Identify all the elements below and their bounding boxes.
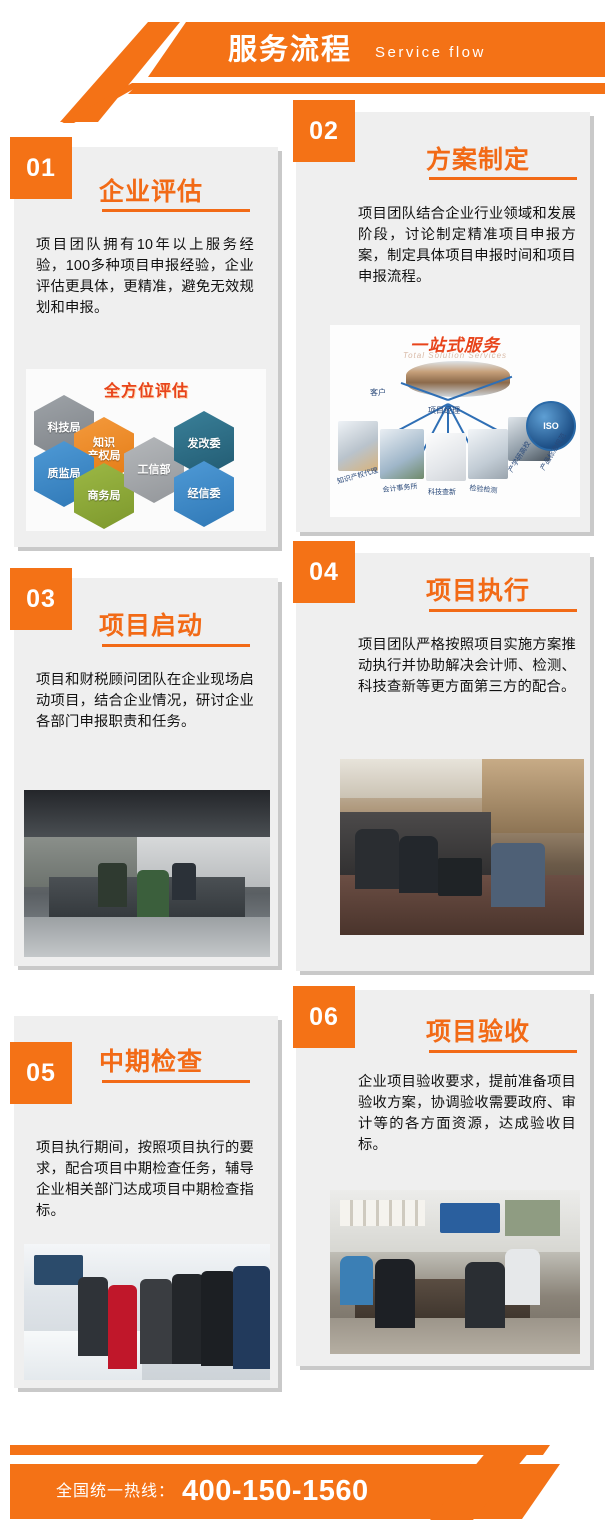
- card-title-01: 企业评估: [99, 172, 203, 208]
- hexagon-node-label: 科技局: [48, 422, 81, 435]
- card-badge-05: 05: [10, 1042, 72, 1104]
- oss-subtitle: Total Solution Services: [403, 351, 507, 360]
- card-badge-number: 03: [26, 585, 56, 614]
- oss-label-testing: 检验检测: [469, 483, 498, 496]
- page-footer: 全国统一热线： 400-150-1560: [0, 1418, 605, 1538]
- card-body-02: 项目团队结合企业行业领域和发展阶段，讨论制定精准项目申报方案，制定具体项目申报时…: [358, 204, 576, 288]
- flow-card-06: 项目验收 企业项目验收要求，提前准备项目验收方案，协调验收需要政府、审计等的各方…: [296, 990, 590, 1366]
- one-stop-service-graphic: 一站式服务 Total Solution Services 客户 项目经理 IS…: [330, 325, 580, 517]
- flow-card-04: 项目执行 项目团队严格按照项目实施方案推动执行并协助解决会计师、检测、科技查新等…: [296, 553, 590, 971]
- card-badge-number: 04: [309, 558, 339, 587]
- card-badge-number: 06: [309, 1003, 339, 1032]
- page-subtitle: Service flow: [375, 41, 486, 65]
- card-title-05: 中期检查: [99, 1042, 203, 1078]
- card-badge-number: 02: [309, 117, 339, 146]
- card-badge-number: 05: [26, 1059, 56, 1088]
- card-badge-04: 04: [293, 541, 355, 603]
- header-stripe: [128, 83, 605, 94]
- hexagon-diagram-title: 全方位评估: [104, 377, 189, 401]
- footer-stripe: [10, 1445, 450, 1455]
- oss-node-thumb: [468, 429, 508, 479]
- card-badge-02: 02: [293, 100, 355, 162]
- flow-card-03: 项目启动 项目和财税顾问团队在企业现场启动项目，结合企业情况，研讨企业各部门申报…: [14, 578, 278, 966]
- hexagon-node-label: 经信委: [188, 488, 221, 501]
- oss-label-manager: 项目经理: [428, 405, 460, 416]
- hotline-number[interactable]: 400-150-1560: [182, 1473, 369, 1509]
- card-title-rule-05: [102, 1080, 250, 1083]
- oss-node-thumb: [380, 429, 424, 479]
- card-title-04: 项目执行: [426, 571, 530, 607]
- site-inspection-photo: [24, 1244, 270, 1380]
- card-body-01: 项目团队拥有10年以上服务经验，100多种项目申报经验，企业评估更具体，更精准，…: [36, 235, 254, 319]
- card-title-03: 项目启动: [99, 606, 203, 642]
- card-body-03: 项目和财税顾问团队在企业现场启动项目，结合企业情况，研讨企业各部门申报职责和任务…: [36, 670, 254, 733]
- card-body-06: 企业项目验收要求，提前准备项目验收方案，协调验收需要政府、审计等的各方面资源，达…: [358, 1072, 576, 1156]
- page-title: 服务流程: [228, 30, 352, 70]
- card-badge-01: 01: [10, 137, 72, 199]
- hexagon-node-label: 工信部: [138, 464, 171, 477]
- hexagon-node-label: 发改委: [188, 438, 221, 451]
- meeting-room-photo: [24, 790, 270, 957]
- card-badge-number: 01: [26, 154, 56, 183]
- hotline-label: 全国统一热线：: [56, 1480, 175, 1504]
- card-title-rule-01: [102, 209, 250, 212]
- card-title-06: 项目验收: [426, 1012, 530, 1048]
- card-title-rule-04: [429, 609, 577, 612]
- oss-node-thumb: [338, 421, 378, 471]
- card-title-rule-03: [102, 644, 250, 647]
- flow-card-02: 方案制定 项目团队结合企业行业领域和发展阶段，讨论制定精准项目申报方案，制定具体…: [296, 112, 590, 532]
- card-body-04: 项目团队严格按照项目实施方案推动执行并协助解决会计师、检测、科技查新等更方面第三…: [358, 635, 576, 698]
- card-badge-06: 06: [293, 986, 355, 1048]
- flow-card-05: 中期检查 项目执行期间，按照项目执行的要求，配合项目中期检查任务，辅导企业相关部…: [14, 1016, 278, 1388]
- working-session-photo: [340, 759, 584, 935]
- card-title-rule-02: [429, 177, 577, 180]
- oss-label-accounting: 会计事务所: [382, 481, 418, 495]
- oss-node-thumb: [426, 433, 466, 481]
- service-flow-page: 服务流程 Service flow 企业评估 项目团队拥有10年以上服务经验，1…: [0, 0, 605, 1538]
- acceptance-meeting-photo: [330, 1190, 580, 1354]
- oss-label-customer: 客户: [370, 387, 386, 398]
- card-badge-03: 03: [10, 568, 72, 630]
- flow-card-01: 企业评估 项目团队拥有10年以上服务经验，100多种项目申报经验，企业评估更具体…: [14, 147, 278, 547]
- hexagon-node-label: 质监局: [48, 468, 81, 481]
- card-body-05: 项目执行期间，按照项目执行的要求，配合项目中期检查任务，辅导企业相关部门达成项目…: [36, 1138, 254, 1222]
- oss-seal-icon: ISO: [526, 401, 576, 451]
- oss-seal-label: ISO: [543, 421, 559, 431]
- hexagon-diagram: 全方位评估 科技局 知识 产权局 质监局 商务局 工信部 发改委 经信委: [26, 369, 266, 531]
- oss-label-novelty: 科技查新: [428, 487, 456, 497]
- card-title-02: 方案制定: [426, 140, 530, 176]
- hexagon-node-label: 商务局: [88, 490, 121, 503]
- card-title-rule-06: [429, 1050, 577, 1053]
